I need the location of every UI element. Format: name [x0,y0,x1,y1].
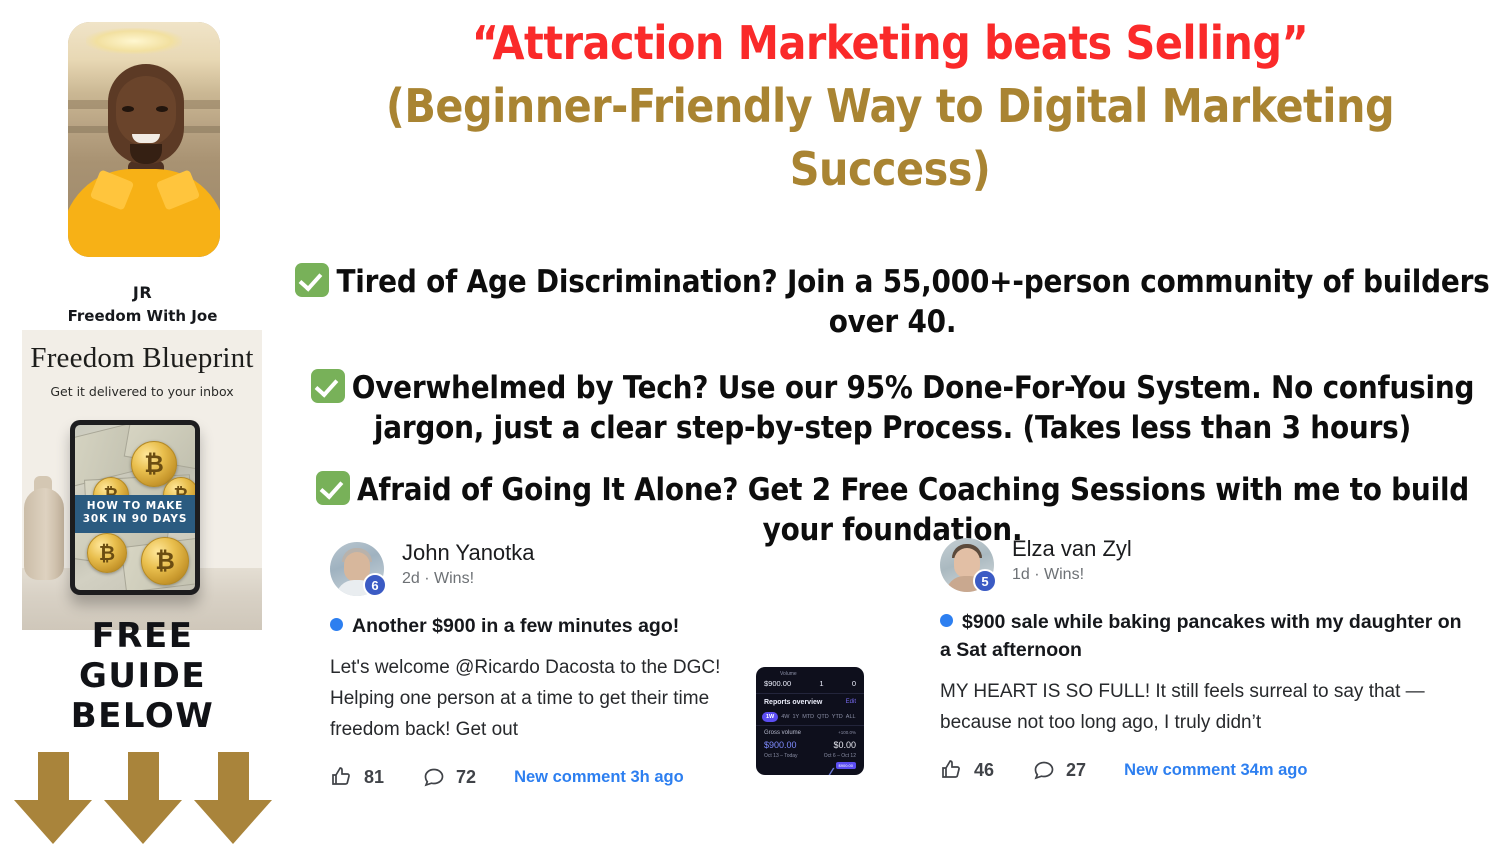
post-header: 6 John Yanotka 2d · Wins! [330,540,770,602]
profile-name: JR [0,283,285,302]
headline-line-2: (Beginner-Friendly Way to Digital Market… [285,75,1495,138]
thumbs-up-icon [940,758,964,782]
new-comment-label[interactable]: New comment 3h ago [514,768,684,787]
comment-bubble-icon [422,765,446,789]
headline-line-3: Success) [285,138,1495,201]
arrow-head [14,800,92,844]
unread-dot-icon [330,618,343,631]
arrow-head [194,800,272,844]
lead-magnet-title: Freedom Blueprint [22,342,262,375]
stripe-current-amount: $900.00 [764,740,797,750]
white-check-mark-icon [316,471,350,505]
comment-count: 72 [456,767,476,788]
bitcoin-coin-icon: ₿ [87,533,127,573]
post-header: 5 Elza van Zyl 1d · Wins! [940,536,1470,598]
portrait-eye-left [122,106,134,112]
level-badge: 5 [973,569,997,593]
stripe-volume-amount: $900.00 [764,679,791,688]
testimonial-post[interactable]: 6 John Yanotka 2d · Wins! Another $900 i… [330,540,770,789]
stripe-previous-amount: $0.00 [833,740,856,750]
unread-dot-icon [940,614,953,627]
stripe-edit-link[interactable]: Edit [846,699,856,705]
stripe-volume-label: Volume [780,671,797,677]
post-title-text: Another $900 in a few minutes ago! [352,615,679,637]
stripe-pct-change: +100.0% [838,730,856,735]
comment-stat[interactable]: 72 [422,765,476,789]
arrow-head [104,800,182,844]
benefit-item: Tired of Age Discrimination? Join a 55,0… [295,262,1490,342]
white-check-mark-icon [311,369,345,403]
stripe-previous-range: Oct 6 – Oct 12 [824,753,856,759]
stripe-count-1: 1 [819,679,823,688]
down-arrow-icon [194,752,272,844]
free-guide-line-3: BELOW [0,696,285,736]
post-body: Let's welcome @Ricardo Dacosta to the DG… [330,652,740,745]
thumbs-up-icon [330,765,354,789]
stripe-tab-mtd[interactable]: MTD [802,714,814,720]
down-arrow-icon [104,752,182,844]
stripe-tab-1w[interactable]: 1W [762,712,778,722]
like-count: 46 [974,760,994,781]
comment-stat[interactable]: 27 [1032,758,1086,782]
white-check-mark-icon [295,263,329,297]
like-count: 81 [364,767,384,788]
post-author-name[interactable]: Elza van Zyl [1012,536,1132,562]
portrait-photo [68,22,220,257]
post-meta: 2d · Wins! [402,570,474,588]
cover-banner-line-2: 30K IN 90 DAYS [75,513,195,526]
stripe-tab-4w[interactable]: 4W [781,714,789,720]
post-stats: 81 72 New comment 3h ago [330,765,770,789]
avatar[interactable]: 6 [330,542,384,596]
stripe-tab-ytd[interactable]: YTD [832,714,843,720]
level-badge: 6 [363,573,387,597]
comment-count: 27 [1066,760,1086,781]
headline: “Attraction Marketing beats Selling” (Be… [285,12,1495,201]
profile-subtitle: Freedom With Joe [0,307,285,325]
stripe-divider-lower [756,725,864,726]
benefit-text: Tired of Age Discrimination? Join a 55,0… [336,264,1489,340]
post-title-text: $900 sale while baking pancakes with my … [940,611,1462,661]
like-stat[interactable]: 46 [940,758,994,782]
arrow-stem [128,752,159,802]
stripe-tab-1y[interactable]: 1Y [793,714,800,720]
post-author-name[interactable]: John Yanotka [402,540,535,566]
stripe-chart-tooltip: $900.00 [836,762,856,769]
promo-graphic: JR Freedom With Joe Freedom Blueprint Ge… [0,0,1500,844]
down-arrows-group [14,752,274,844]
stripe-chart-line: ∕ [828,763,832,775]
lead-magnet-card[interactable]: Freedom Blueprint Get it delivered to yo… [22,330,262,630]
benefit-text: Overwhelmed by Tech? Use our 95% Done-Fo… [352,370,1475,446]
stripe-range-tabs[interactable]: 1W 4W 1Y MTD QTD YTD ALL [762,712,860,722]
benefit-item: Overwhelmed by Tech? Use our 95% Done-Fo… [295,368,1490,448]
portrait-eye-right [156,106,168,112]
cover-banner-line-1: HOW TO MAKE [75,500,195,513]
avatar[interactable]: 5 [940,538,994,592]
down-arrow-icon [14,752,92,844]
arrow-stem [218,752,249,802]
like-stat[interactable]: 81 [330,765,384,789]
arrow-stem [38,752,69,802]
left-sidebar: JR Freedom With Joe Freedom Blueprint Ge… [0,0,285,844]
bitcoin-coin-icon: ₿ [141,537,189,585]
lead-magnet-cover-banner: HOW TO MAKE 30K IN 90 DAYS [75,495,195,533]
stripe-divider [756,693,864,694]
new-comment-label[interactable]: New comment 34m ago [1124,761,1307,780]
lead-magnet-vase [24,488,64,580]
free-guide-line-1: FREE [0,616,285,656]
post-body: MY HEART IS SO FULL! It still feels surr… [940,676,1470,738]
portrait-lamp-glow [86,28,182,54]
benefit-list: Tired of Age Discrimination? Join a 55,0… [295,262,1490,550]
post-stats: 46 27 New comment 34m ago [940,758,1470,782]
lead-magnet-subtitle: Get it delivered to your inbox [22,384,262,399]
post-title[interactable]: Another $900 in a few minutes ago! [330,612,770,640]
lead-magnet-cover-image: ₿ ₿ ₿ ₿ ₿ HOW TO MAKE 30K IN 90 DAYS [75,425,195,590]
stripe-reports-title: Reports overview [764,699,822,706]
post-title[interactable]: $900 sale while baking pancakes with my … [940,608,1470,664]
stripe-tab-all[interactable]: ALL [846,714,856,720]
post-meta: 1d · Wins! [1012,566,1084,584]
stripe-current-range: Oct 13 – Today [764,753,798,759]
stripe-tab-qtd[interactable]: QTD [817,714,829,720]
free-guide-callout: FREE GUIDE BELOW [0,616,285,736]
comment-bubble-icon [1032,758,1056,782]
testimonial-post[interactable]: 5 Elza van Zyl 1d · Wins! $900 sale whil… [940,536,1470,782]
stripe-gross-volume-label: Gross volume [764,730,801,736]
post-attachment-thumbnail[interactable]: Volume $900.00 1 0 Reports overview Edit… [756,667,864,775]
portrait-shirt [68,169,220,257]
lead-magnet-tablet: ₿ ₿ ₿ ₿ ₿ HOW TO MAKE 30K IN 90 DAYS [70,420,200,595]
stripe-summary-row: $900.00 1 0 [764,679,856,688]
stripe-count-2: 0 [852,679,856,688]
free-guide-line-2: GUIDE [0,656,285,696]
headline-line-1: “Attraction Marketing beats Selling” [285,12,1495,75]
